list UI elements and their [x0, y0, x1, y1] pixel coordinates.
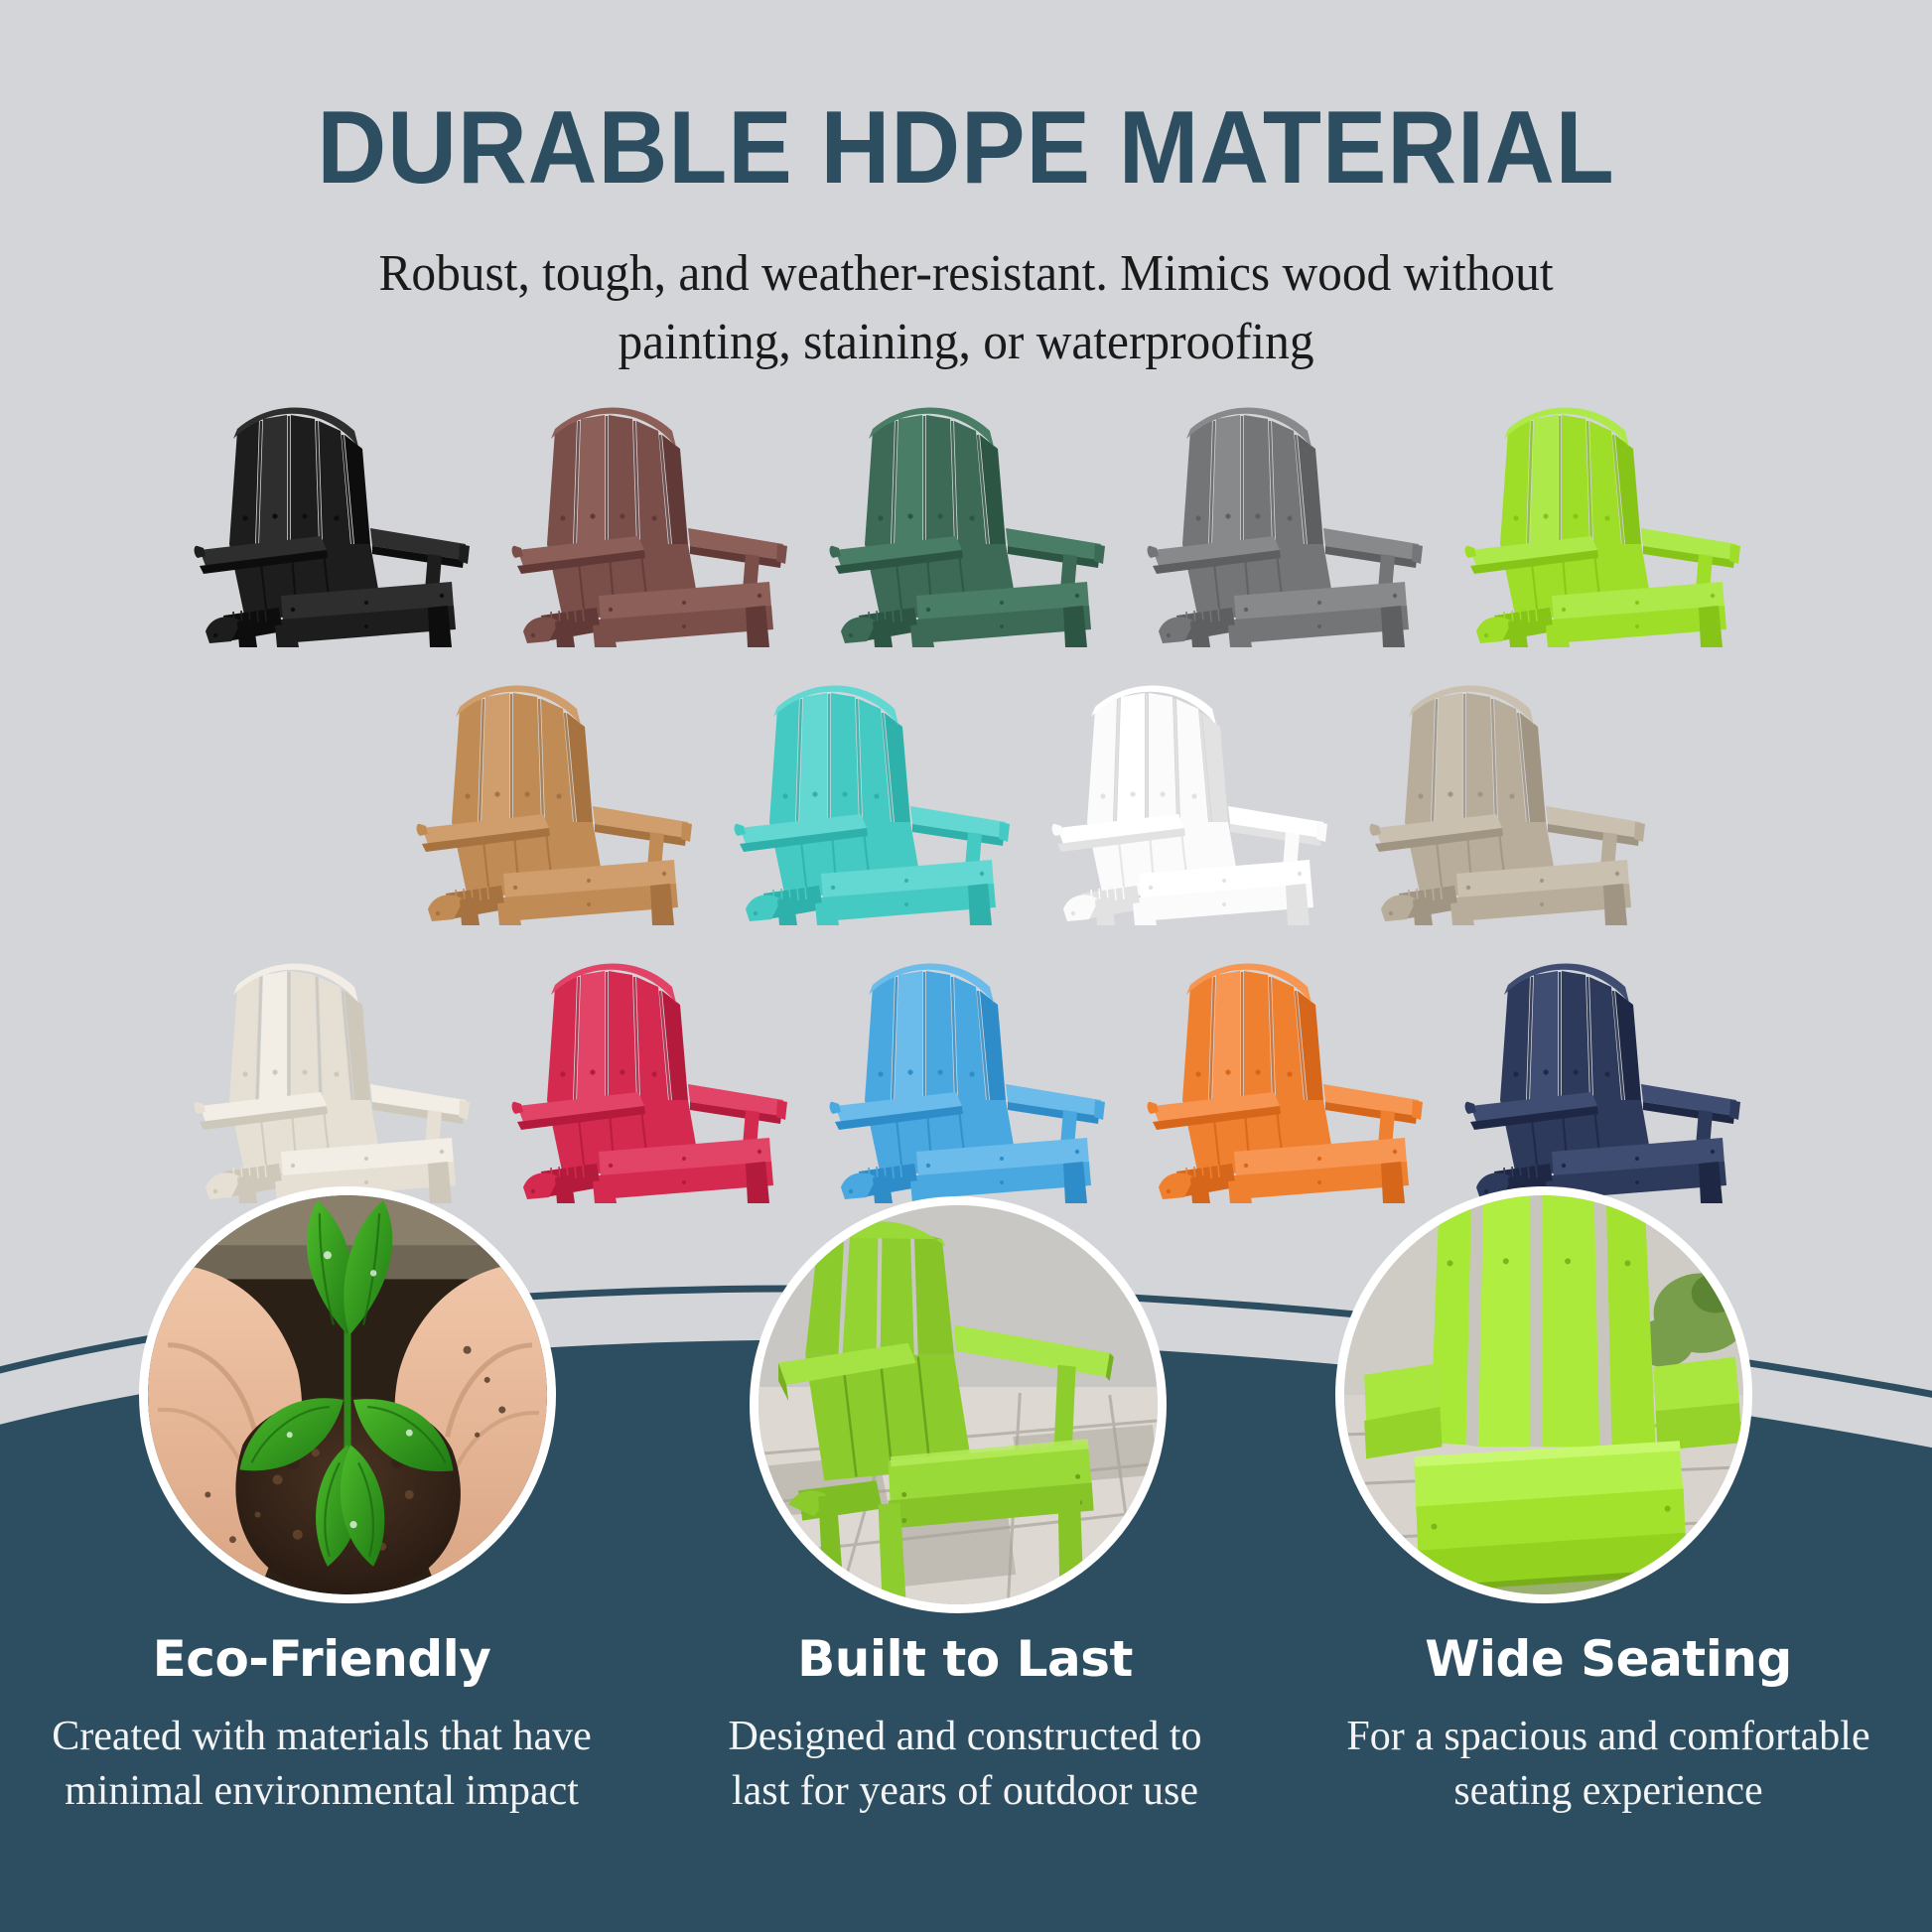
- adirondack-chair-svg: [172, 369, 489, 647]
- subtitle-line-2: painting, staining, or waterproofing: [49, 309, 1884, 377]
- chair-color-grid: [0, 369, 1932, 1203]
- adirondack-chair-svg: [1347, 647, 1665, 925]
- feature-desc-line-2: minimal environmental impact: [28, 1764, 616, 1819]
- adirondack-chair-svg: [1443, 925, 1760, 1203]
- header: DURABLE HDPE MATERIAL Robust, tough, and…: [0, 0, 1932, 376]
- adirondack-chair-svg: [807, 369, 1125, 647]
- hands-seedling-illustration: [148, 1195, 547, 1594]
- chair-swatch-teak[interactable]: [394, 647, 712, 925]
- chair-swatch-ivory[interactable]: [172, 925, 489, 1203]
- chair-swatch-navy[interactable]: [1443, 925, 1760, 1203]
- chair-row-1: [0, 369, 1932, 647]
- feature-item-wide-seating: Wide Seating For a spacious and comforta…: [1287, 1630, 1930, 1818]
- chair-swatch-gray[interactable]: [1125, 369, 1443, 647]
- lime-chair-seat-closeup-illustration: [1344, 1195, 1743, 1594]
- feature-list: Eco-Friendly Created with materials that…: [0, 1630, 1932, 1818]
- adirondack-chair-svg: [712, 647, 1030, 925]
- chair-swatch-brown[interactable]: [489, 369, 807, 647]
- chair-swatch-sand[interactable]: [1347, 647, 1665, 925]
- chair-swatch-dark-green[interactable]: [807, 369, 1125, 647]
- page-title: DURABLE HDPE MATERIAL: [68, 94, 1864, 203]
- chair-swatch-red[interactable]: [489, 925, 807, 1203]
- feature-desc-line-1: For a spacious and comfortable: [1314, 1710, 1902, 1764]
- built-to-last-photo: [750, 1196, 1167, 1613]
- adirondack-chair-svg: [489, 925, 807, 1203]
- adirondack-chair-svg: [1443, 369, 1760, 647]
- feature-desc-line-1: Designed and constructed to: [671, 1710, 1259, 1764]
- feature-title: Wide Seating: [1314, 1630, 1902, 1688]
- adirondack-chair-svg: [807, 925, 1125, 1203]
- chair-row-3: [0, 925, 1932, 1203]
- adirondack-chair-svg: [172, 925, 489, 1203]
- feature-desc-line-1: Created with materials that have: [28, 1710, 616, 1764]
- eco-friendly-photo: [139, 1186, 556, 1603]
- feature-desc-line-2: seating experience: [1314, 1764, 1902, 1819]
- feature-desc-line-2: last for years of outdoor use: [671, 1764, 1259, 1819]
- adirondack-chair-svg: [1125, 369, 1443, 647]
- feature-title: Eco-Friendly: [28, 1630, 616, 1688]
- chair-row-2: [127, 647, 1932, 925]
- feature-description: Created with materials that have minimal…: [28, 1710, 616, 1818]
- lime-chair-patio-illustration: [759, 1205, 1158, 1604]
- adirondack-chair-svg: [489, 369, 807, 647]
- feature-description: For a spacious and comfortable seating e…: [1314, 1710, 1902, 1818]
- bottom-panel: [0, 1271, 1932, 1932]
- chair-swatch-white[interactable]: [1030, 647, 1347, 925]
- feature-item-built-to-last: Built to Last Designed and constructed t…: [643, 1630, 1287, 1818]
- chair-swatch-lime-green[interactable]: [1443, 369, 1760, 647]
- feature-photos: [0, 1271, 1932, 1932]
- chair-swatch-orange[interactable]: [1125, 925, 1443, 1203]
- subtitle-line-1: Robust, tough, and weather-resistant. Mi…: [49, 240, 1884, 309]
- chair-swatch-black[interactable]: [172, 369, 489, 647]
- wide-seating-photo: [1335, 1186, 1752, 1603]
- feature-title: Built to Last: [671, 1630, 1259, 1688]
- infographic-page: DURABLE HDPE MATERIAL Robust, tough, and…: [0, 0, 1932, 1932]
- adirondack-chair-svg: [394, 647, 712, 925]
- page-subtitle: Robust, tough, and weather-resistant. Mi…: [49, 240, 1884, 376]
- feature-description: Designed and constructed to last for yea…: [671, 1710, 1259, 1818]
- chair-swatch-turquoise[interactable]: [712, 647, 1030, 925]
- chair-swatch-sky-blue[interactable]: [807, 925, 1125, 1203]
- adirondack-chair-svg: [1125, 925, 1443, 1203]
- adirondack-chair-svg: [1030, 647, 1347, 925]
- feature-item-eco-friendly: Eco-Friendly Created with materials that…: [0, 1630, 643, 1818]
